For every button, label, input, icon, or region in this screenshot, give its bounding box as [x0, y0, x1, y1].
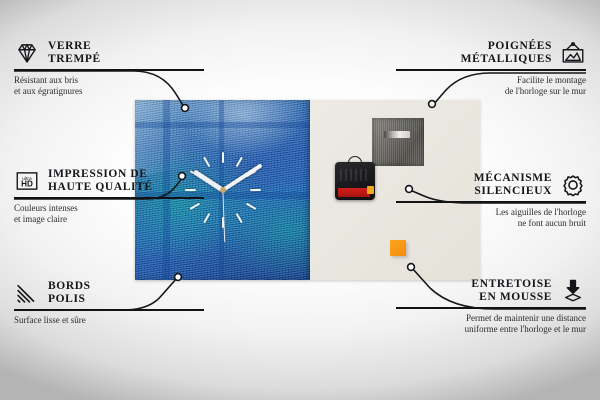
hand-cap	[220, 187, 226, 193]
feature-title-line2: TREMPÉ	[48, 53, 101, 66]
feature-desc-line1: Couleurs intenses	[14, 203, 204, 215]
foam-spacer-icon	[560, 278, 586, 304]
feature-verre-trempe[interactable]: VERRE TREMPÉ Résistant aux bris et aux é…	[14, 40, 204, 98]
feature-desc-line2: ne font aucun bruit	[396, 218, 586, 230]
feature-desc-line1: Surface lisse et sûre	[14, 315, 204, 327]
feature-head: BORDS POLIS	[14, 280, 204, 306]
feature-desc-line1: Facilite le montage	[396, 75, 586, 87]
feature-title-line1: VERRE	[48, 40, 101, 53]
feature-rule	[14, 309, 204, 311]
feature-rule	[14, 69, 204, 71]
feature-rule	[14, 197, 204, 199]
ultra-hd-icon: ultra HD	[14, 168, 40, 194]
battery-terminal	[367, 186, 374, 194]
feature-title-line2: HAUTE QUALITÉ	[48, 181, 153, 194]
feature-title: ENTRETOISE EN MOUSSE	[471, 278, 552, 304]
feature-entretoise-en-mousse[interactable]: ENTRETOISE EN MOUSSE Permet de maintenir…	[396, 278, 586, 336]
feature-title: VERRE TREMPÉ	[48, 40, 101, 66]
feature-title: BORDS POLIS	[48, 280, 91, 306]
picture-hanger-icon	[560, 40, 586, 66]
polished-edges-icon	[14, 280, 40, 306]
feature-desc-line2: et image claire	[14, 214, 204, 226]
glass-sheen	[135, 100, 232, 178]
feature-desc-line2: de l'horloge sur le mur	[396, 86, 586, 98]
feature-mecanisme-silencieux[interactable]: MÉCANISME SILENCIEUX Les aiguilles de l'…	[396, 172, 586, 230]
feature-title: IMPRESSION DE HAUTE QUALITÉ	[48, 168, 153, 194]
feature-desc-line2: et aux égratignures	[14, 86, 204, 98]
ultra-hd-large-text: HD	[21, 180, 33, 189]
feature-title: POIGNÉES MÉTALLIQUES	[461, 40, 552, 66]
feature-desc-line1: Les aiguilles de l'horloge	[396, 207, 586, 219]
movement-hook	[348, 156, 362, 165]
feature-head: ENTRETOISE EN MOUSSE	[396, 278, 586, 304]
feature-title-line1: BORDS	[48, 280, 91, 293]
feature-impression-haute-qualite[interactable]: ultra HD IMPRESSION DE HAUTE QUALITÉ Cou…	[14, 168, 204, 226]
feature-title-line2: SILENCIEUX	[474, 185, 552, 198]
feature-title-line1: POIGNÉES	[461, 40, 552, 53]
feature-title-line1: MÉCANISME	[474, 172, 552, 185]
feature-head: VERRE TREMPÉ	[14, 40, 204, 66]
battery	[338, 188, 370, 197]
infographic-canvas: VERRE TREMPÉ Résistant aux bris et aux é…	[0, 0, 600, 400]
feature-bords-polis[interactable]: BORDS POLIS Surface lisse et sûre	[14, 280, 204, 326]
feature-poignees-metalliques[interactable]: POIGNÉES MÉTALLIQUES Facilite le montage…	[396, 40, 586, 98]
feature-head: ultra HD IMPRESSION DE HAUTE QUALITÉ	[14, 168, 204, 194]
hanger-plate	[372, 118, 424, 166]
feature-rule	[396, 69, 586, 71]
feature-head: MÉCANISME SILENCIEUX	[396, 172, 586, 198]
face-grid-bar	[135, 122, 310, 128]
feature-title: MÉCANISME SILENCIEUX	[474, 172, 552, 198]
feature-desc-line2: uniforme entre l'horloge et le mur	[396, 324, 586, 336]
feature-desc-line1: Permet de maintenir une distance	[396, 313, 586, 325]
gear-icon	[560, 172, 586, 198]
feature-title-line1: ENTRETOISE	[471, 278, 552, 291]
foam-spacer	[390, 240, 406, 256]
feature-title-line2: POLIS	[48, 293, 91, 306]
feature-rule	[396, 201, 586, 203]
feature-head: POIGNÉES MÉTALLIQUES	[396, 40, 586, 66]
feature-title-line1: IMPRESSION DE	[48, 168, 153, 181]
diamond-icon	[14, 40, 40, 66]
movement-detail	[340, 169, 370, 181]
feature-desc-line1: Résistant aux bris	[14, 75, 204, 87]
hanger-slot	[384, 131, 410, 138]
feature-title-line2: MÉTALLIQUES	[461, 53, 552, 66]
feature-rule	[396, 307, 586, 309]
feature-title-line2: EN MOUSSE	[471, 291, 552, 304]
clock-movement	[335, 162, 375, 200]
